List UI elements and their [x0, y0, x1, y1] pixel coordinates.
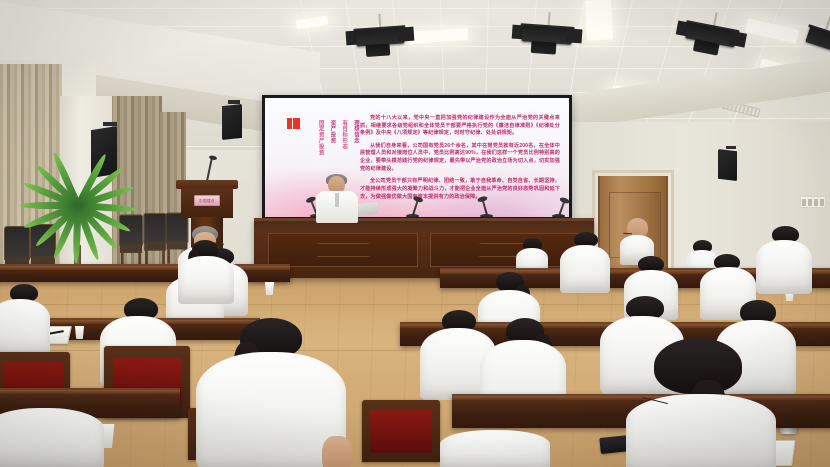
speaker-bracket [103, 122, 117, 126]
speaker-bracket [228, 100, 240, 104]
audience-member-foreground [0, 408, 104, 467]
switch-rocker[interactable] [802, 199, 806, 206]
panel-diamond-inlay [296, 243, 391, 257]
eyeglasses [623, 233, 632, 236]
person-torso [756, 240, 812, 294]
slide-paragraph: 从我们自身来看，公司国有党员26个余名，其中在岗党员就有近200名，在全体中层管… [360, 143, 560, 174]
red-decorative-mark [287, 118, 300, 129]
ceiling-panel-light [585, 0, 613, 41]
audience-member [560, 232, 610, 292]
person-torso [178, 256, 234, 304]
slide-paragraph: 全公司党员干部只有严明纪律、团结一致，敢于自我革命、自觉自省、长期坚持，才能持续… [360, 178, 560, 201]
desk-edge [0, 390, 180, 394]
light-switch-panel[interactable] [800, 196, 826, 208]
rig-wing [566, 28, 583, 43]
person-torso [440, 430, 550, 467]
stage-light-rig [680, 7, 742, 64]
person-torso [0, 408, 104, 467]
person-torso [0, 299, 50, 357]
audience-member [0, 284, 50, 356]
vertical-heading: 资产投资 [329, 120, 336, 155]
vertical-heading: 理想信念 [352, 120, 359, 155]
vertical-heading: 有目标形态 [341, 120, 348, 155]
person-torso [626, 394, 776, 467]
stage-light-rig [518, 10, 575, 60]
audience-member-foreground [620, 338, 780, 467]
lectern-emblem: 中国建设 [194, 195, 220, 206]
presenter-collar [335, 193, 339, 207]
chair-leg [162, 250, 165, 265]
audience-chair[interactable] [362, 400, 440, 462]
switch-rocker[interactable] [808, 199, 812, 206]
laptop-on-table [356, 202, 378, 216]
switch-rocker[interactable] [820, 199, 824, 206]
chair-cushion [370, 410, 432, 453]
table-panel [268, 233, 418, 267]
rig-wing [729, 31, 747, 48]
rig-housing-lower [366, 43, 391, 57]
wall-speaker [222, 104, 242, 140]
switch-rocker[interactable] [814, 199, 818, 206]
person-arm [322, 436, 352, 467]
audience-member-female [178, 240, 234, 302]
slide-vertical-headings: 固定资产投资 资产投资 有目标形态 理想信念 [317, 120, 359, 155]
person-torso [560, 245, 610, 293]
rig-wing [397, 27, 414, 42]
audience-member-foreground [440, 430, 550, 467]
slide-paragraph: 党的十八大以来，党中央一直把加强党的纪律建设作为全面从严治党的关键点来抓，相继要… [360, 115, 560, 138]
speaker-bracket [726, 146, 736, 149]
audience-member-foreground [196, 318, 346, 467]
vertical-heading: 固定资产投资 [317, 120, 324, 155]
rig-rod [548, 12, 551, 26]
rig-housing-lower [531, 41, 557, 55]
conference-hall-photo: 固定资产投资 资产投资 有目标形态 理想信念 党的十八大以来，党中央一直把加强党… [0, 0, 830, 467]
slide-body-text: 党的十八大以来，党中央一直把加强党的纪律建设作为全面从严治党的关键点来抓，相继要… [360, 115, 560, 206]
table-panel [430, 233, 580, 267]
audience-member [756, 226, 812, 292]
presenter-speaking [316, 176, 358, 222]
wall-speaker [718, 149, 737, 181]
stage-light-rig [352, 12, 407, 62]
